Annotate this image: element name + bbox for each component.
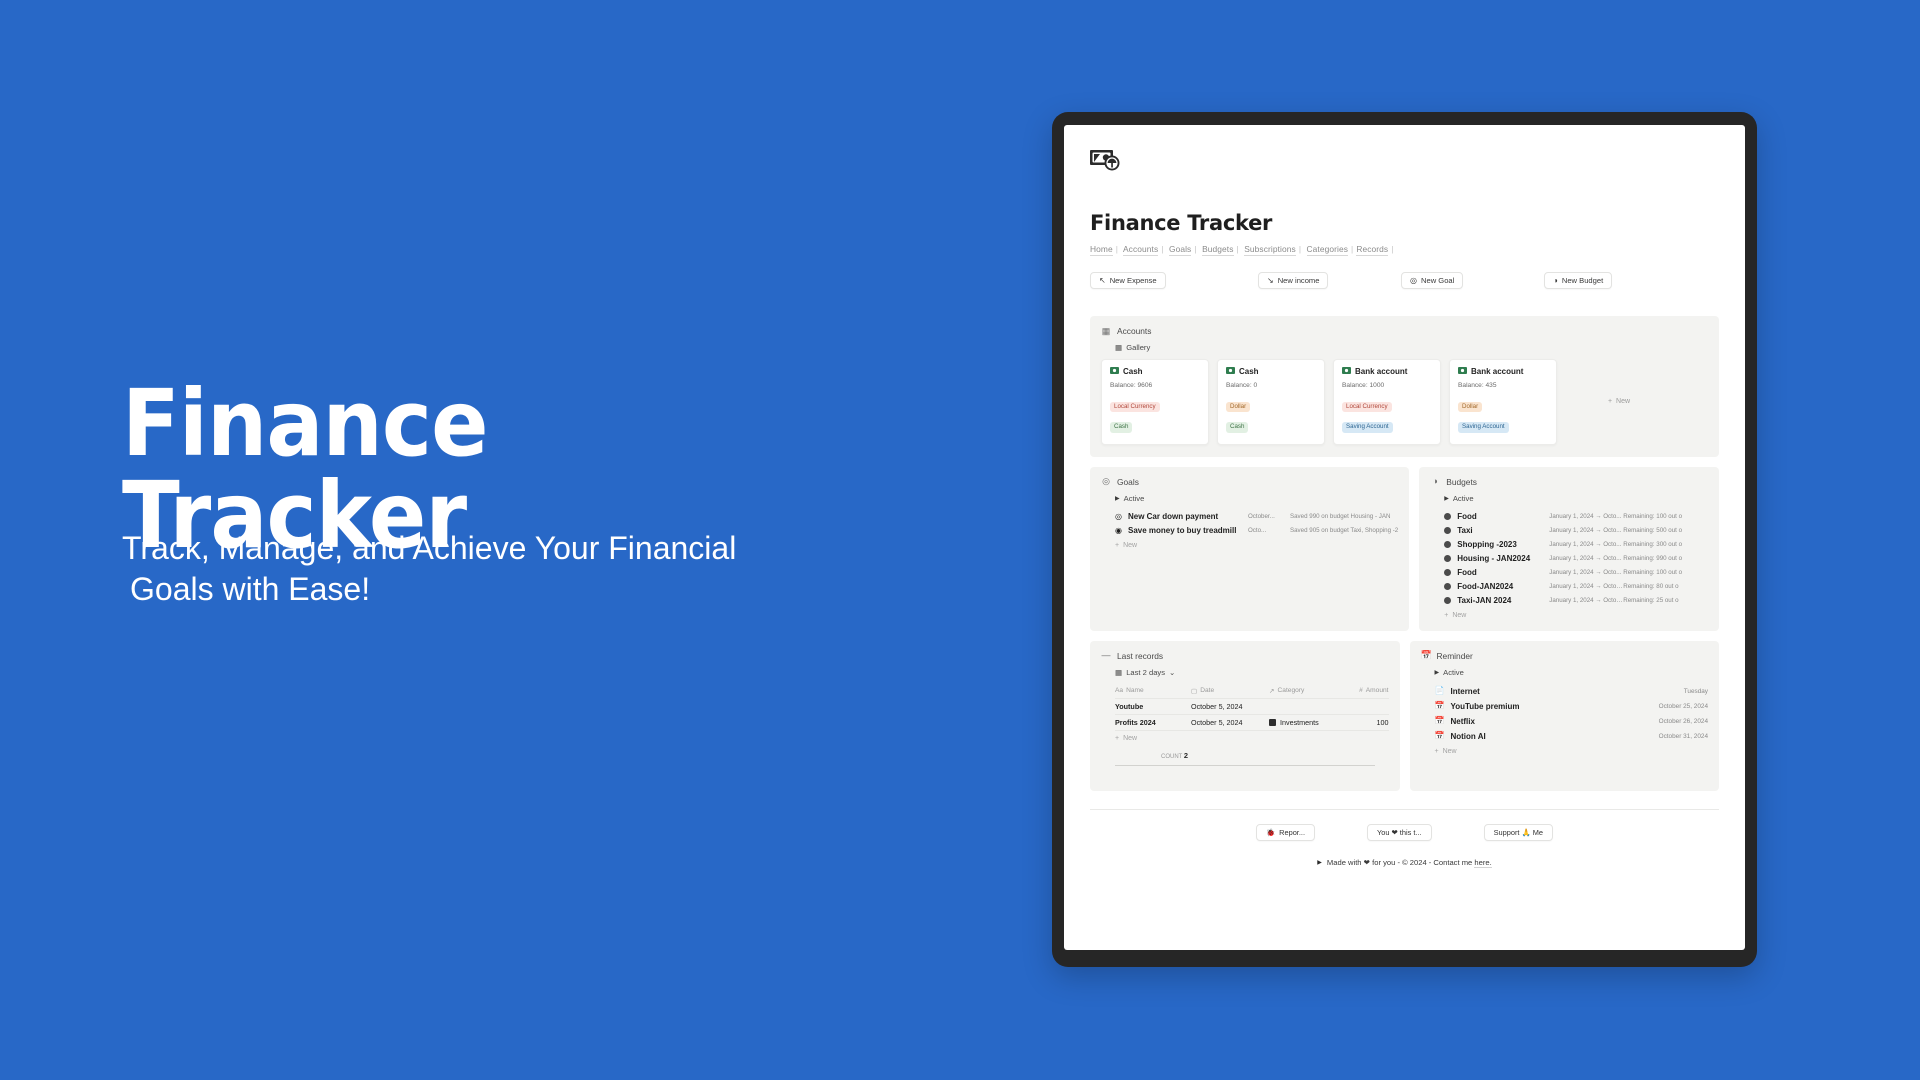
hero-section: Finance Tracker Track, Manage, and Achie… (0, 0, 880, 1080)
text-icon: Aa (1115, 687, 1123, 694)
last-records-view-label: Last 2 days (1126, 668, 1165, 677)
record-date: October 5, 2024 (1191, 718, 1269, 727)
record-name: Youtube (1115, 702, 1191, 711)
budget-range: January 1, 2024 → Octob... (1549, 597, 1623, 604)
budget-name: Shopping -2023 (1457, 540, 1549, 549)
nav-sep: | (1158, 244, 1166, 254)
banknote-icon (1226, 367, 1235, 376)
account-card[interactable]: Cash Balance: 0 Dollar Cash (1217, 359, 1325, 445)
chevron-down-icon: ⌄ (1169, 668, 1175, 677)
banknote-icon (1110, 367, 1119, 376)
plus-icon: + (1435, 748, 1439, 755)
goals-group-toggle[interactable]: ▶ Active (1115, 494, 1398, 503)
budget-remaining: Remaining: 100 out o (1623, 513, 1708, 520)
account-balance: Balance: 435 (1458, 382, 1548, 389)
goal-item[interactable]: ◉ Save money to buy treadmill Octo... Sa… (1115, 524, 1398, 538)
circle-icon (1444, 597, 1451, 604)
circle-icon (1444, 527, 1451, 534)
reminder-name: Internet (1450, 687, 1683, 696)
account-name: Bank account (1355, 367, 1407, 376)
goal-date: Octo... (1248, 527, 1290, 534)
new-reminder-row-button[interactable]: + New (1435, 748, 1709, 755)
new-record-row-button[interactable]: + New (1115, 735, 1389, 742)
goal-date: October... (1248, 513, 1290, 520)
budget-range: January 1, 2024 → Octo... (1549, 541, 1623, 548)
account-name: Cash (1123, 367, 1143, 376)
account-balance: Balance: 0 (1226, 382, 1316, 389)
account-name: Bank account (1471, 367, 1523, 376)
footer-credit-line2[interactable]: here. (1474, 858, 1491, 868)
budget-item[interactable]: Food-JAN2024 January 1, 2024 → Octob... … (1444, 580, 1708, 594)
account-currency-tag: Dollar (1226, 402, 1250, 413)
document-icon: 📄 (1435, 687, 1445, 695)
calendar-badge-icon: 📅 (1435, 732, 1445, 740)
banknote-icon (1342, 367, 1351, 376)
support-me-button[interactable]: Support 🙏 Me (1484, 824, 1553, 841)
banknote-icon (1458, 367, 1467, 376)
play-triangle-icon: ▶ (1444, 495, 1449, 502)
goal-name: Save money to buy treadmill (1128, 526, 1248, 535)
circle-icon (1444, 569, 1451, 576)
column-header-amount[interactable]: # Amount (1349, 687, 1389, 694)
reminder-group-toggle[interactable]: ▶ Active (1435, 668, 1709, 677)
accounts-view-selector[interactable]: ▦ Gallery (1115, 343, 1708, 352)
account-card[interactable]: Bank account Balance: 1000 Local Currenc… (1333, 359, 1441, 445)
column-header-category-label: Category (1278, 687, 1305, 694)
account-card[interactable]: Bank account Balance: 435 Dollar Saving … (1449, 359, 1557, 445)
goal-name: New Car down payment (1128, 512, 1248, 521)
nav-link-accounts[interactable]: Accounts (1123, 244, 1158, 256)
account-name: Cash (1239, 367, 1259, 376)
last-records-view-selector[interactable]: ▦ Last 2 days ⌄ (1115, 668, 1389, 677)
bug-icon: 🐞 (1266, 828, 1275, 837)
account-currency-tag: Dollar (1458, 402, 1482, 413)
new-goal-row-button[interactable]: + New (1115, 542, 1398, 549)
target-icon: ◎ (1101, 477, 1111, 486)
accounts-block-header[interactable]: ▦ Accounts (1101, 326, 1708, 336)
goals-budgets-row: ◎ Goals ▶ Active ◎ New Car down payment … (1090, 467, 1719, 631)
reminder-name: Netflix (1450, 717, 1658, 726)
reminder-name: YouTube premium (1450, 702, 1658, 711)
table-row[interactable]: Youtube October 5, 2024 (1115, 699, 1389, 715)
new-reminder-row-label: New (1443, 748, 1457, 755)
column-header-date[interactable]: ▢ Date (1191, 687, 1269, 695)
page-nav-links: Home| Accounts| Goals| Budgets| Subscrip… (1090, 244, 1719, 254)
account-card[interactable]: Cash Balance: 9606 Local Currency Cash (1101, 359, 1209, 445)
device-screen: Finance Tracker Home| Accounts| Goals| B… (1064, 125, 1745, 950)
money-with-wings-icon (1090, 149, 1124, 175)
reminder-date: October 26, 2024 (1659, 718, 1708, 725)
new-goal-row-label: New (1123, 542, 1137, 549)
reminder-name: Notion AI (1450, 732, 1658, 741)
budgets-block-header[interactable]: ◑ Budgets (1430, 477, 1708, 487)
minus-icon: — (1101, 651, 1111, 660)
goals-block: ◎ Goals ▶ Active ◎ New Car down payment … (1090, 467, 1409, 631)
nav-sep: | (1191, 244, 1199, 254)
budget-item[interactable]: Shopping -2023 January 1, 2024 → Octo...… (1444, 538, 1708, 552)
column-header-amount-label: Amount (1366, 687, 1389, 694)
budgets-group-label: Active (1453, 494, 1474, 503)
plus-icon: + (1115, 735, 1119, 742)
account-type-tag: Cash (1110, 422, 1132, 433)
nav-sep: | (1234, 244, 1242, 254)
gallery-icon: ▦ (1115, 343, 1122, 352)
love-label: You ❤ this t... (1377, 828, 1422, 837)
plus-icon: + (1444, 612, 1448, 619)
last-records-block: — Last records ▦ Last 2 days ⌄ Aa Name (1090, 641, 1400, 791)
new-budget-label: New Budget (1562, 276, 1603, 285)
new-income-label: New income (1278, 276, 1320, 285)
account-balance: Balance: 1000 (1342, 382, 1432, 389)
new-budget-row-label: New (1452, 612, 1466, 619)
column-header-name[interactable]: Aa Name (1115, 687, 1191, 694)
budget-range: January 1, 2024 → Octob... (1549, 583, 1623, 590)
calendar-badge-icon: 📅 (1435, 717, 1445, 725)
budget-remaining: Remaining: 500 out o (1623, 527, 1708, 534)
budget-remaining: Remaining: 300 out o (1623, 541, 1708, 548)
table-icon: ▦ (1115, 668, 1122, 677)
budget-remaining: Remaining: 80 out o (1623, 583, 1708, 590)
plus-icon: + (1115, 542, 1119, 549)
footer-credit-line1: Made with ❤ for you - © 2024 - Contact m… (1327, 858, 1472, 867)
table-footer-divider (1115, 765, 1375, 766)
new-income-button[interactable]: ↘ New income (1258, 272, 1328, 289)
footer-credit-text: Made with ❤ for you - © 2024 - Contact m… (1327, 857, 1492, 868)
page-title: Finance Tracker (1090, 211, 1719, 235)
half-moon-icon: ◑ (1553, 277, 1558, 285)
report-button[interactable]: 🐞 Repor... (1256, 824, 1315, 841)
circle-icon (1444, 583, 1451, 590)
new-record-row-label: New (1123, 735, 1137, 742)
footer-button-row: 🐞 Repor... You ❤ this t... Support 🙏 Me (1090, 824, 1719, 841)
account-card-title-row: Bank account (1342, 367, 1432, 376)
play-triangle-icon: ▶ (1115, 495, 1120, 502)
record-count-value: 2 (1184, 751, 1188, 760)
hero-subtitle-line1: Track, Manage, and Achieve Your Financia… (122, 530, 736, 566)
records-reminder-row: — Last records ▦ Last 2 days ⌄ Aa Name (1090, 641, 1719, 791)
budget-range: January 1, 2024 → Octo... (1549, 527, 1623, 534)
table-header-row: Aa Name ▢ Date ↗ Category # (1115, 684, 1389, 699)
reminder-block: 📅 Reminder ▶ Active 📄 Internet Tuesday 📅… (1410, 641, 1720, 791)
nav-sep: | (1388, 244, 1396, 254)
calendar-badge-icon: 📅 (1421, 651, 1431, 660)
reminder-item[interactable]: 📄 Internet Tuesday (1435, 684, 1709, 699)
accounts-block: ▦ Accounts ▦ Gallery Cash Balance: 9606 … (1090, 316, 1719, 457)
budget-item[interactable]: Food January 1, 2024 → Octo... Remaining… (1444, 566, 1708, 580)
circle-icon (1444, 555, 1451, 562)
record-name: Profits 2024 (1115, 718, 1191, 727)
circle-icon (1444, 513, 1451, 520)
goals-block-title: Goals (1117, 477, 1139, 487)
circle-icon (1444, 541, 1451, 548)
relation-icon: ↗ (1269, 687, 1275, 695)
budget-item[interactable]: Taxi-JAN 2024 January 1, 2024 → Octob...… (1444, 594, 1708, 608)
budget-remaining: Remaining: 25 out o (1623, 597, 1708, 604)
device-frame: Finance Tracker Home| Accounts| Goals| B… (1052, 112, 1757, 967)
reminder-date: October 25, 2024 (1659, 703, 1708, 710)
goals-block-header[interactable]: ◎ Goals (1101, 477, 1398, 487)
goals-group-label: Active (1124, 494, 1145, 503)
play-triangle-icon[interactable]: ▶ (1317, 859, 1322, 868)
account-currency-tag: Local Currency (1342, 402, 1392, 413)
last-records-block-title: Last records (1117, 651, 1163, 661)
footer-divider (1090, 809, 1719, 810)
new-account-label: New (1616, 398, 1630, 405)
budget-range: January 1, 2024 → Octo... (1549, 513, 1623, 520)
account-balance: Balance: 9606 (1110, 382, 1200, 389)
account-card-title-row: Cash (1110, 367, 1200, 376)
reminder-item[interactable]: 📅 Netflix October 26, 2024 (1435, 714, 1709, 729)
record-count: COUNT 2 (1161, 751, 1389, 760)
record-category-cell: Investments (1269, 718, 1349, 727)
notion-page: Finance Tracker Home| Accounts| Goals| B… (1064, 125, 1745, 868)
number-icon: # (1359, 687, 1363, 694)
reminder-item[interactable]: 📅 YouTube premium October 25, 2024 (1435, 699, 1709, 714)
account-type-tag: Saving Account (1458, 422, 1509, 433)
budget-range: January 1, 2024 → Octo... (1549, 569, 1623, 576)
record-count-label: COUNT (1161, 754, 1182, 760)
account-card-title-row: Cash (1226, 367, 1316, 376)
grid-icon: ▦ (1101, 327, 1111, 336)
nav-link-records[interactable]: Records (1356, 244, 1388, 256)
budget-range: January 1, 2024 → Octo... (1549, 555, 1623, 562)
record-date: October 5, 2024 (1191, 702, 1269, 711)
action-button-row: ↖ New Expense ↘ New income ◎ New Goal ◑ … (1090, 272, 1719, 290)
budget-name: Food-JAN2024 (1457, 582, 1549, 591)
plus-icon: + (1608, 398, 1612, 405)
budget-item[interactable]: Taxi January 1, 2024 → Octo... Remaining… (1444, 524, 1708, 538)
accounts-card-list: Cash Balance: 9606 Local Currency Cash C… (1101, 359, 1708, 445)
half-moon-icon: ◑ (1430, 477, 1440, 486)
budget-item[interactable]: Housing - JAN2024 January 1, 2024 → Octo… (1444, 552, 1708, 566)
goal-note: Saved 990 on budget Housing - JAN (1290, 513, 1398, 520)
goal-item[interactable]: ◎ New Car down payment October... Saved … (1115, 510, 1398, 524)
column-header-date-label: Date (1200, 687, 1214, 694)
record-amount: 100 (1349, 718, 1389, 727)
reminder-block-title: Reminder (1437, 651, 1473, 661)
nav-link-subscriptions[interactable]: Subscriptions (1244, 244, 1296, 256)
new-expense-button[interactable]: ↖ New Expense (1090, 272, 1166, 289)
target-icon: ◎ (1115, 513, 1122, 521)
support-label: Support 🙏 Me (1494, 828, 1543, 837)
budget-name: Food (1457, 512, 1549, 521)
love-this-template-button[interactable]: You ❤ this t... (1367, 824, 1432, 841)
new-goal-button[interactable]: ◎ New Goal (1401, 272, 1463, 289)
circle-dot-icon: ◉ (1115, 527, 1122, 535)
new-account-card-button[interactable]: + New (1565, 359, 1673, 445)
arrow-down-right-icon: ↘ (1267, 277, 1274, 285)
accounts-block-title: Accounts (1117, 326, 1151, 336)
table-row[interactable]: Profits 2024 October 5, 2024 Investments… (1115, 715, 1389, 731)
last-records-block-header[interactable]: — Last records (1101, 651, 1389, 661)
arrow-down-left-icon: ↖ (1099, 277, 1106, 285)
budget-remaining: Remaining: 990 out o (1623, 555, 1708, 562)
new-expense-label: New Expense (1110, 276, 1157, 285)
reminder-item[interactable]: 📅 Notion AI October 31, 2024 (1435, 729, 1709, 744)
budget-name: Housing - JAN2024 (1457, 554, 1549, 563)
nav-link-budgets[interactable]: Budgets (1202, 244, 1233, 256)
reminder-date: Tuesday (1684, 688, 1708, 695)
calendar-icon: ▢ (1191, 687, 1197, 695)
new-budget-button[interactable]: ◑ New Budget (1544, 272, 1612, 289)
target-icon: ◎ (1410, 277, 1417, 285)
hero-subtitle: Track, Manage, and Achieve Your Financia… (122, 528, 822, 610)
budget-name: Taxi-JAN 2024 (1457, 596, 1549, 605)
budget-name: Food (1457, 568, 1549, 577)
calendar-badge-icon: 📅 (1435, 702, 1445, 710)
play-triangle-icon: ▶ (1435, 669, 1440, 676)
nav-sep: | (1296, 244, 1304, 254)
reminder-group-label: Active (1443, 668, 1464, 677)
record-category: Investments (1280, 718, 1319, 727)
account-card-title-row: Bank account (1458, 367, 1548, 376)
new-budget-row-button[interactable]: + New (1444, 612, 1708, 619)
report-button-label: Repor... (1279, 828, 1305, 837)
hero-subtitle-line2: Goals with Ease! (122, 569, 822, 610)
budgets-block-title: Budgets (1446, 477, 1477, 487)
account-type-tag: Saving Account (1342, 422, 1393, 433)
nav-link-goals[interactable]: Goals (1169, 244, 1191, 256)
budget-item[interactable]: Food January 1, 2024 → Octo... Remaining… (1444, 510, 1708, 524)
new-goal-label: New Goal (1421, 276, 1454, 285)
reminder-block-header[interactable]: 📅 Reminder (1421, 651, 1709, 661)
budgets-block: ◑ Budgets ▶ Active Food January 1, 2024 … (1419, 467, 1719, 631)
last-records-table: Aa Name ▢ Date ↗ Category # (1115, 684, 1389, 731)
nav-link-home[interactable]: Home (1090, 244, 1113, 256)
goal-note: Saved 905 on budget Taxi, Shopping -2 (1290, 527, 1398, 534)
footer-credit: ▶ Made with ❤ for you - © 2024 - Contact… (1090, 857, 1719, 868)
category-color-swatch (1269, 719, 1276, 726)
nav-link-categories[interactable]: Categories (1307, 244, 1349, 256)
budgets-group-toggle[interactable]: ▶ Active (1444, 494, 1708, 503)
column-header-category[interactable]: ↗ Category (1269, 687, 1349, 695)
nav-sep: | (1113, 244, 1121, 254)
account-type-tag: Cash (1226, 422, 1248, 433)
account-currency-tag: Local Currency (1110, 402, 1160, 413)
budget-name: Taxi (1457, 526, 1549, 535)
accounts-view-label: Gallery (1126, 343, 1150, 352)
column-header-name-label: Name (1126, 687, 1144, 694)
budget-remaining: Remaining: 100 out o (1623, 569, 1708, 576)
reminder-date: October 31, 2024 (1659, 733, 1708, 740)
